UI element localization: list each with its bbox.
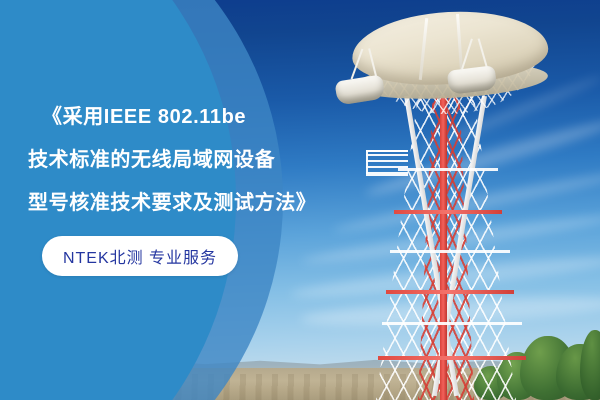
tower-mast-center (440, 96, 447, 400)
headline-line-2: 技术标准的无线局域网设备 (28, 139, 318, 182)
tower-crossband-red (386, 290, 514, 294)
headline-line-3: 型号核准技术要求及测试方法》 (28, 182, 318, 225)
feed-horn-icon (334, 74, 385, 105)
tower-platform (366, 150, 408, 176)
tower-crossband-red (394, 210, 502, 214)
headline-line-1: 《采用IEEE 802.11be (28, 96, 318, 139)
tower-crossband (382, 322, 522, 325)
cta-button[interactable]: NTEK北测 专业服务 (42, 236, 238, 276)
promo-banner: 《采用IEEE 802.11be 技术标准的无线局域网设备 型号核准技术要求及测… (0, 0, 600, 400)
communications-tower (330, 0, 600, 400)
tower-crossband (390, 250, 510, 253)
headline: 《采用IEEE 802.11be 技术标准的无线局域网设备 型号核准技术要求及测… (28, 96, 318, 225)
tower-crossband-red (378, 356, 526, 360)
tower-crossband (398, 168, 498, 171)
banner-content: 《采用IEEE 802.11be 技术标准的无线局域网设备 型号核准技术要求及测… (0, 0, 320, 400)
